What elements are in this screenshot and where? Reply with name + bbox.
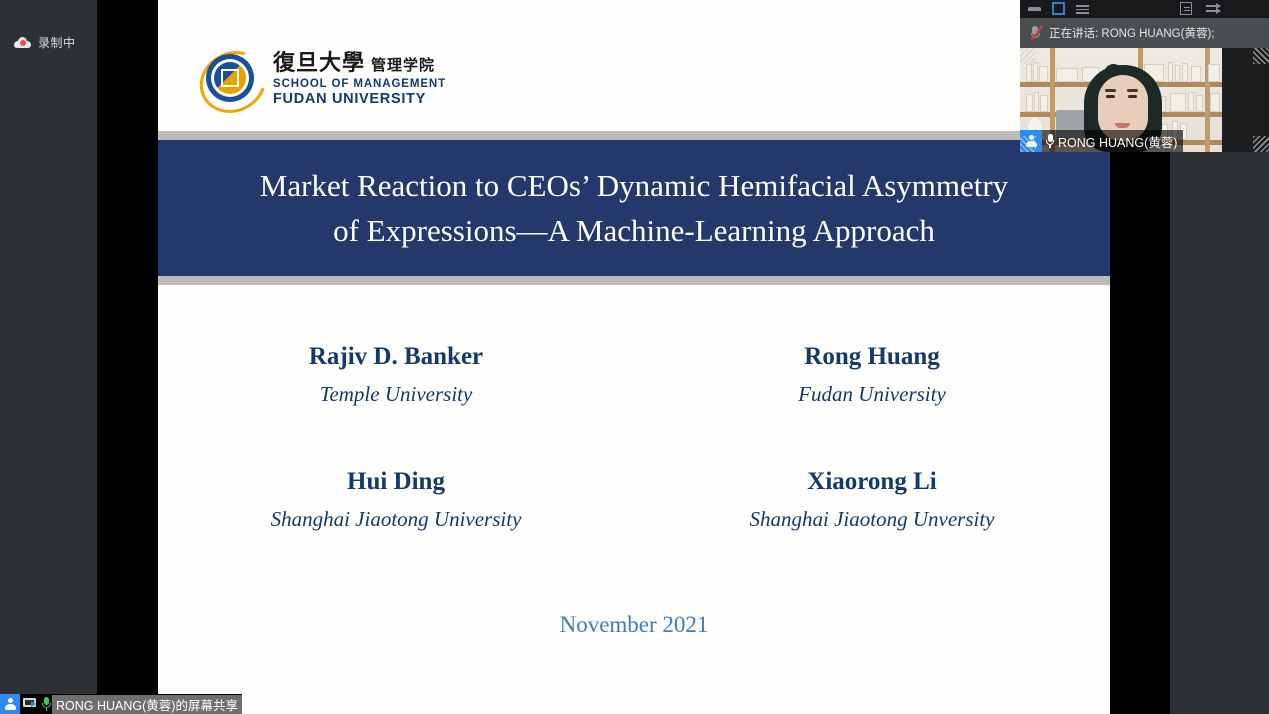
tile-corner-decor [1020,48,1036,64]
author-row: Hui Ding Shanghai Jiaotong University Xi… [158,465,1110,535]
maximize-icon[interactable] [1052,2,1065,15]
recording-indicator[interactable]: 录制中 [14,34,76,51]
author-name: Xiaorong Li [634,465,1110,499]
participant-video-tile[interactable]: RONG HUANG(黄蓉) [1020,48,1269,152]
page-title-line-2: of Expressions—A Machine-Learning Approa… [333,208,935,253]
speaking-label: 正在讲话: RONG HUANG(黄蓉); [1049,25,1214,41]
divider-bottom [158,276,1110,285]
microphone-muted-icon [1029,25,1041,42]
slide-date: November 2021 [158,612,1110,638]
author-cell: Xiaorong Li Shanghai Jiaotong Unversity [634,465,1110,535]
zoom-meeting-window: 录制中 復旦大學 管理学院 SCHOOL OF MANAGEMENT FUDAN… [0,0,1269,714]
microphone-icon [1045,134,1055,148]
swap-views-icon[interactable] [1206,2,1220,15]
author-affiliation: Shanghai Jiaotong Unversity [634,503,1110,535]
popout-window-icon[interactable] [1180,2,1192,15]
author-affiliation: Temple University [158,378,634,410]
author-affiliation: Shanghai Jiaotong University [158,503,634,535]
tile-corner-decor [1020,136,1036,152]
speaking-status-bar: 正在讲话: RONG HUANG(黄蓉); [1020,18,1269,48]
author-name: Rajiv D. Banker [158,340,634,374]
author-name: Rong Huang [634,340,1110,374]
screen-share-status-bar: RONG HUANG(黄蓉)的屏幕共享 [0,694,242,714]
screen-share-label: RONG HUANG(黄蓉)的屏幕共享 [52,695,242,714]
logo-chinese-name: 復旦大學 [273,52,365,74]
logo-english-school: SCHOOL OF MANAGEMENT [273,79,446,91]
logo-english-university: FUDAN UNIVERSITY [273,92,446,107]
tile-corner-decor [1253,48,1269,64]
hamburger-menu-icon[interactable] [1076,2,1089,15]
panel-actions [1180,2,1220,15]
letterbox-left [97,0,158,714]
page-title-line-1: Market Reaction to CEOs’ Dynamic Hemifac… [260,163,1008,208]
fudan-emblem-icon [198,48,262,110]
recording-label: 录制中 [38,34,76,51]
divider-top [158,131,1110,140]
shared-slide: 復旦大學 管理学院 SCHOOL OF MANAGEMENT FUDAN UNI… [158,0,1110,714]
logo-chinese-school: 管理学院 [371,58,435,73]
participant-panel: 正在讲话: RONG HUANG(黄蓉); [1170,0,1269,714]
minimize-icon[interactable] [1028,2,1041,15]
fudan-som-logo: 復旦大學 管理学院 SCHOOL OF MANAGEMENT FUDAN UNI… [198,48,446,110]
author-row: Rajiv D. Banker Temple University Rong H… [158,340,1110,410]
left-rail: 录制中 [0,0,97,714]
participant-name-tag: RONG HUANG(黄蓉) [1020,130,1183,152]
cloud-record-icon [14,37,31,48]
author-affiliation: Fudan University [634,378,1110,410]
author-cell: Rajiv D. Banker Temple University [158,340,634,410]
participant-icon [0,694,20,714]
tile-corner-decor [1253,136,1269,152]
slide-title-banner: Market Reaction to CEOs’ Dynamic Hemifac… [158,140,1110,276]
microphone-active-icon [41,697,52,712]
author-cell: Rong Huang Fudan University [634,340,1110,410]
participant-name-label: RONG HUANG(黄蓉) [1058,132,1177,151]
window-controls [1028,2,1089,15]
author-cell: Hui Ding Shanghai Jiaotong University [158,465,634,535]
author-name: Hui Ding [158,465,634,499]
screen-share-icon [23,697,38,711]
authors-block: Rajiv D. Banker Temple University Rong H… [158,340,1110,535]
